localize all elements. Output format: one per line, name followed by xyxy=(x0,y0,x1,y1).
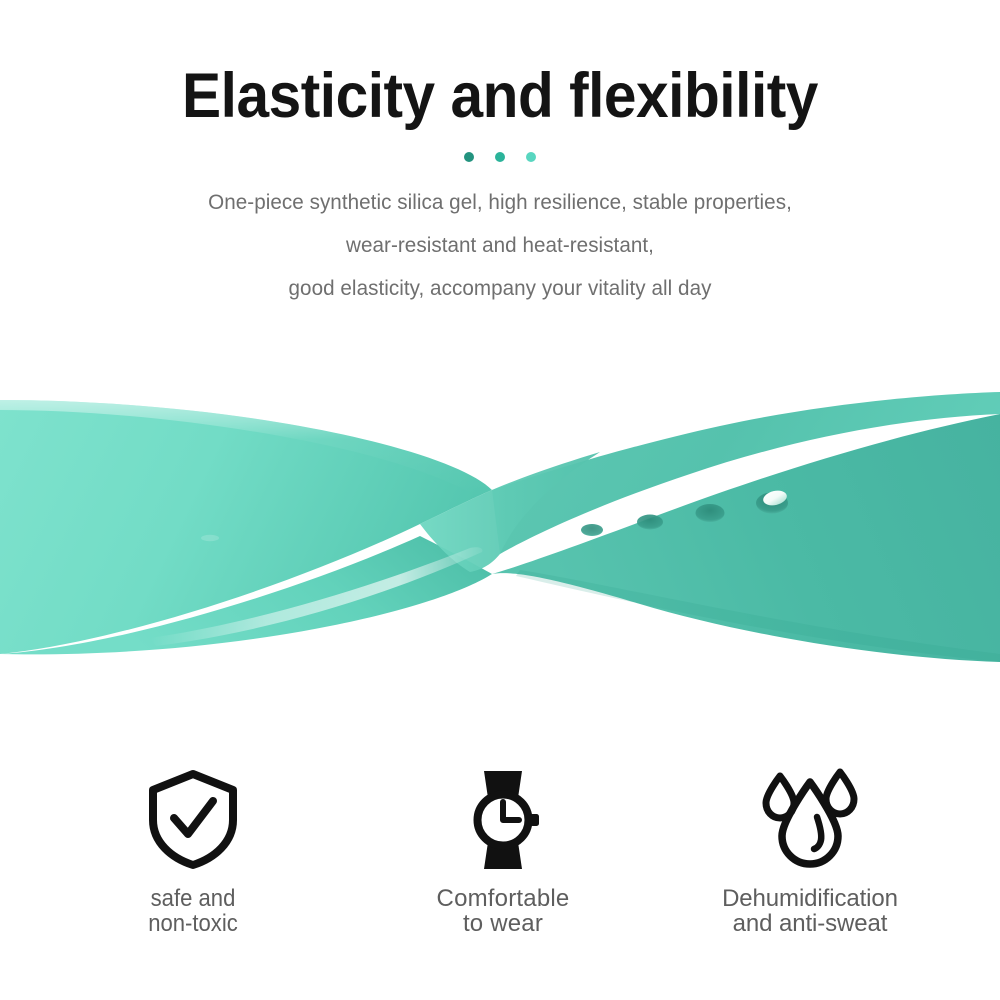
feature-row: safe and non-toxic xyxy=(0,768,1000,948)
wristwatch-icon xyxy=(353,768,653,876)
feature-caption: Dehumidification and anti-sweat xyxy=(660,886,960,936)
product-feature-page: Elasticity and flexibility One-piece syn… xyxy=(0,0,1000,1000)
subtitle-line-3: good elasticity, accompany your vitality… xyxy=(68,267,932,310)
subtitle-line-2: wear-resistant and heat-resistant, xyxy=(68,224,932,267)
feature-caption: safe and non-toxic xyxy=(55,886,331,936)
caption-line-2: and anti-sweat xyxy=(660,911,960,936)
feature-dehumidification: Dehumidification and anti-sweat xyxy=(660,768,960,936)
feature-comfortable-to-wear: Comfortable to wear xyxy=(353,768,653,936)
dot-2-icon xyxy=(495,152,505,162)
caption-line-1: Dehumidification xyxy=(660,886,960,911)
caption-line-1: safe and xyxy=(55,886,331,911)
page-title: Elasticity and flexibility xyxy=(35,0,965,130)
subtitle: One-piece synthetic silica gel, high res… xyxy=(68,181,932,310)
caption-line-2: non-toxic xyxy=(55,911,331,936)
dot-3-icon xyxy=(526,152,536,162)
water-drops-icon xyxy=(660,768,960,876)
feature-caption: Comfortable to wear xyxy=(353,886,653,936)
adjustment-hole-3 xyxy=(696,504,725,522)
band-left-dimple xyxy=(201,535,219,541)
dot-1-icon xyxy=(464,152,474,162)
shield-check-icon xyxy=(43,768,343,876)
subtitle-line-1: One-piece synthetic silica gel, high res… xyxy=(68,181,932,224)
feature-safe-non-toxic: safe and non-toxic xyxy=(43,768,343,936)
product-image-twisted-band xyxy=(0,370,1000,690)
caption-line-1: Comfortable xyxy=(353,886,653,911)
header: Elasticity and flexibility One-piece syn… xyxy=(0,0,1000,310)
caption-line-2: to wear xyxy=(353,911,653,936)
adjustment-hole-2 xyxy=(637,515,663,530)
adjustment-hole-1 xyxy=(581,524,603,536)
dot-separator xyxy=(464,151,536,162)
